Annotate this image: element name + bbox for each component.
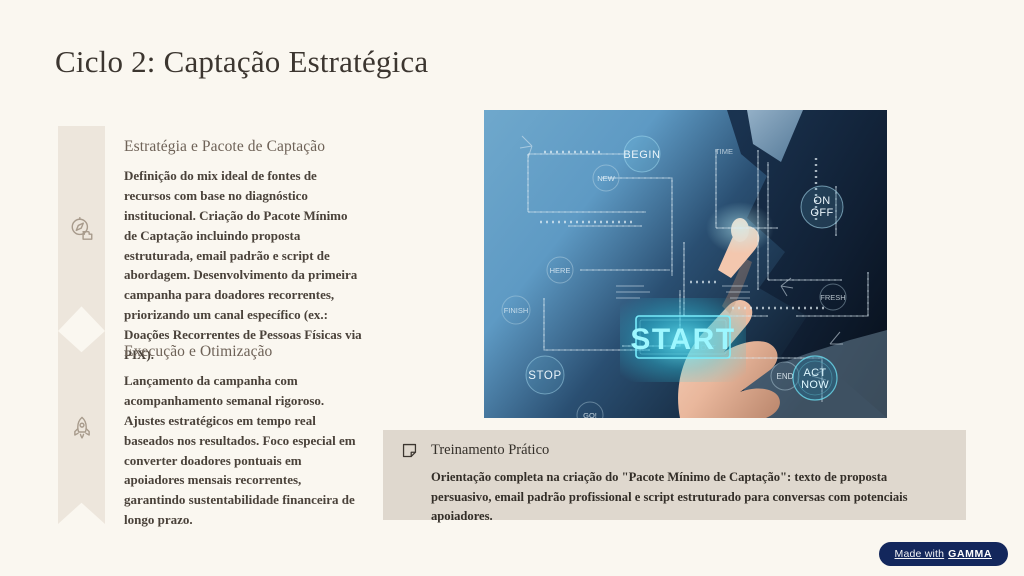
badge-brand-label: GAMMA xyxy=(948,548,992,560)
svg-text:HERE: HERE xyxy=(550,266,571,275)
callout-header: Treinamento Prático xyxy=(401,442,948,459)
svg-text:TIME: TIME xyxy=(715,147,733,156)
svg-text:ACT: ACT xyxy=(804,367,827,379)
hero-image: BEGIN NEW HERE FINISH STOP GO! TIME LOST… xyxy=(484,110,887,418)
compass-strategy-icon xyxy=(69,216,95,242)
svg-text:BEGIN: BEGIN xyxy=(623,149,660,161)
svg-text:ON: ON xyxy=(813,195,830,207)
feature-body-2: Lançamento da campanha com acompanhament… xyxy=(124,371,363,530)
feature-heading-1: Estratégia e Pacote de Captação xyxy=(124,138,363,156)
svg-text:OFF: OFF xyxy=(810,207,833,219)
feature-text-block-2: Execução e Otimização Lançamento da camp… xyxy=(105,331,363,524)
features-list: Estratégia e Pacote de Captação Definiçã… xyxy=(58,126,363,524)
callout-title: Treinamento Prático xyxy=(431,442,549,459)
feature-item-strategy: Estratégia e Pacote de Captação Definiçã… xyxy=(58,126,363,331)
ribbon-banner-1 xyxy=(58,126,105,331)
made-with-gamma-badge[interactable]: Made with GAMMA xyxy=(879,542,1008,566)
svg-text:END: END xyxy=(777,372,794,381)
svg-text:FRESH: FRESH xyxy=(820,293,845,302)
rocket-icon xyxy=(69,415,95,441)
feature-heading-2: Execução e Otimização xyxy=(124,343,363,361)
svg-text:STOP: STOP xyxy=(528,370,562,382)
badge-made-with-label: Made with xyxy=(895,548,945,560)
page-title: Ciclo 2: Captação Estratégica xyxy=(55,44,428,80)
svg-text:START: START xyxy=(630,323,735,356)
callout-body: Orientação completa na criação do "Pacot… xyxy=(401,468,948,527)
svg-text:NEW: NEW xyxy=(597,174,615,183)
ribbon-banner-2 xyxy=(58,331,105,524)
svg-text:NOW: NOW xyxy=(801,379,829,391)
callout-box: Treinamento Prático Orientação completa … xyxy=(383,430,966,520)
feature-text-block-1: Estratégia e Pacote de Captação Definiçã… xyxy=(105,126,363,331)
note-icon xyxy=(401,442,418,459)
svg-text:FINISH: FINISH xyxy=(504,306,529,315)
svg-text:GO!: GO! xyxy=(583,411,597,418)
feature-item-execution: Execução e Otimização Lançamento da camp… xyxy=(58,331,363,524)
